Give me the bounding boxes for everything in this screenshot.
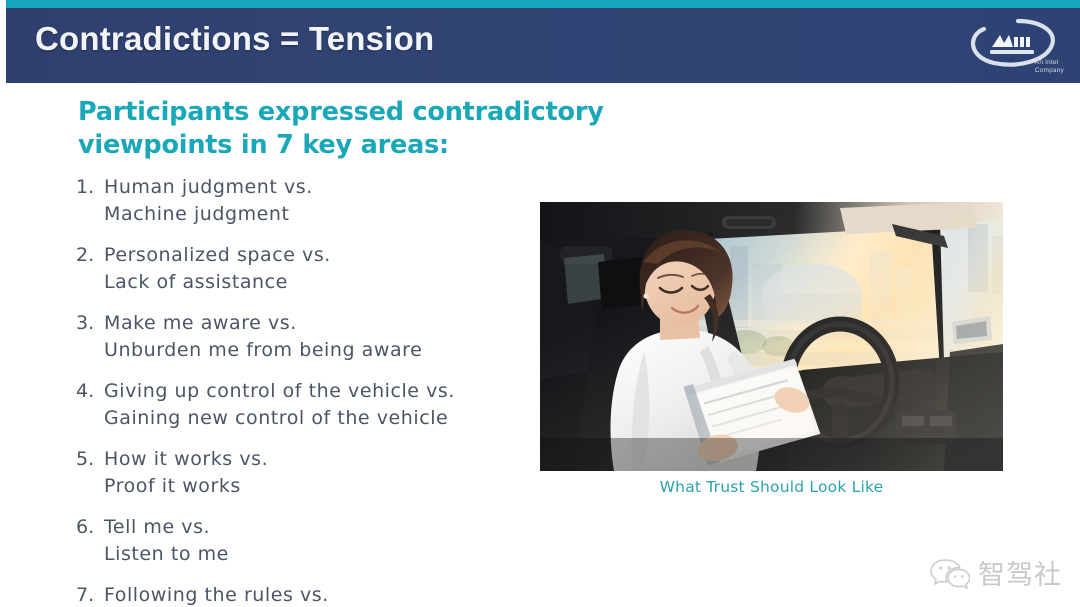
- list-item-number: 3.: [76, 310, 104, 337]
- slide: Contradictions = Tension An Intel Compan…: [0, 0, 1080, 607]
- logo-tagline: An Intel Company: [1035, 59, 1064, 75]
- lead-heading: Participants expressed contradictory vie…: [78, 96, 678, 162]
- list-item-line-1: How it works vs.: [104, 446, 546, 473]
- list-item-line-2: Lack of assistance: [104, 269, 546, 296]
- list-item: 1. Human judgment vs. Machine judgment: [76, 174, 546, 228]
- car-interior-photo: [540, 202, 1003, 471]
- page-title: Contradictions = Tension: [35, 20, 434, 58]
- list-item: 4. Giving up control of the vehicle vs. …: [76, 378, 546, 432]
- list-item-line-2: Machine judgment: [104, 201, 546, 228]
- list-item-line-1: Make me aware vs.: [104, 310, 546, 337]
- list-item-line-1: Giving up control of the vehicle vs.: [104, 378, 546, 405]
- list-item-line-2: Gaining new control of the vehicle: [104, 405, 546, 432]
- list-item-body: Following the rules vs. Human interpreta…: [104, 582, 546, 607]
- list-item-number: 4.: [76, 378, 104, 405]
- list-item-body: Tell me vs. Listen to me: [104, 514, 546, 568]
- list-item: 7. Following the rules vs. Human interpr…: [76, 582, 546, 607]
- wechat-watermark: 智驾社: [930, 557, 1062, 593]
- photo-caption: What Trust Should Look Like: [540, 478, 1003, 496]
- contradictions-list: 1. Human judgment vs. Machine judgment 2…: [76, 174, 546, 607]
- wechat-icon: [930, 557, 970, 593]
- logo-tagline-line1: An Intel: [1035, 59, 1064, 67]
- list-item-number: 1.: [76, 174, 104, 201]
- header-accent-strip: [6, 0, 1080, 8]
- list-item-line-1: Tell me vs.: [104, 514, 546, 541]
- list-item-number: 6.: [76, 514, 104, 541]
- list-item-number: 5.: [76, 446, 104, 473]
- list-item-number: 2.: [76, 242, 104, 269]
- list-item: 6. Tell me vs. Listen to me: [76, 514, 546, 568]
- list-item-line-1: Human judgment vs.: [104, 174, 546, 201]
- list-item-number: 7.: [76, 582, 104, 607]
- list-item-line-1: Following the rules vs.: [104, 582, 546, 607]
- mobileye-logo: An Intel Company: [960, 9, 1068, 77]
- list-item-line-2: Proof it works: [104, 473, 546, 500]
- logo-tagline-line2: Company: [1035, 67, 1064, 75]
- watermark-text: 智驾社: [978, 562, 1062, 589]
- list-item: 2. Personalized space vs. Lack of assist…: [76, 242, 546, 296]
- list-item: 3. Make me aware vs. Unburden me from be…: [76, 310, 546, 364]
- slide-header: Contradictions = Tension An Intel Compan…: [6, 0, 1080, 83]
- list-item-body: Make me aware vs. Unburden me from being…: [104, 310, 546, 364]
- list-item-body: Human judgment vs. Machine judgment: [104, 174, 546, 228]
- list-item: 5. How it works vs. Proof it works: [76, 446, 546, 500]
- list-item-line-2: Unburden me from being aware: [104, 337, 546, 364]
- list-item-line-2: Listen to me: [104, 541, 546, 568]
- list-item-line-1: Personalized space vs.: [104, 242, 546, 269]
- list-item-body: Personalized space vs. Lack of assistanc…: [104, 242, 546, 296]
- list-item-body: How it works vs. Proof it works: [104, 446, 546, 500]
- list-item-body: Giving up control of the vehicle vs. Gai…: [104, 378, 546, 432]
